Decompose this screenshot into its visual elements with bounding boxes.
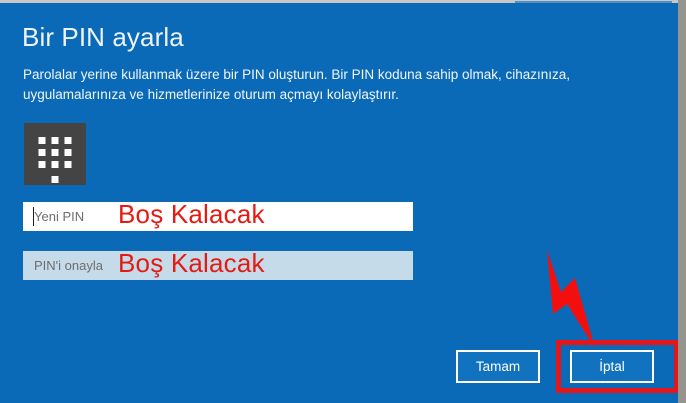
text-caret bbox=[33, 207, 34, 226]
page-title: Bir PIN ayarla bbox=[22, 22, 184, 53]
window-right-border bbox=[678, 0, 686, 403]
keypad-dot-grid bbox=[39, 137, 72, 168]
set-pin-dialog: Bir PIN ayarla Parolalar yerine kullanma… bbox=[0, 3, 678, 403]
pin-keypad-icon bbox=[24, 123, 86, 185]
ok-button[interactable]: Tamam bbox=[456, 350, 540, 383]
annotation-confirm-pin: Boş Kalacak bbox=[118, 248, 265, 279]
red-pointer-arrow bbox=[515, 248, 625, 353]
screenshot-root: Bir PIN ayarla Parolalar yerine kullanma… bbox=[0, 0, 686, 403]
confirm-pin-placeholder: PIN'i onayla bbox=[23, 258, 103, 273]
dialog-description: Parolalar yerine kullanmak üzere bir PIN… bbox=[23, 65, 633, 105]
annotation-new-pin: Boş Kalacak bbox=[118, 199, 265, 230]
cancel-button[interactable]: İptal bbox=[570, 350, 654, 383]
keypad-dot-bottom bbox=[52, 176, 59, 183]
